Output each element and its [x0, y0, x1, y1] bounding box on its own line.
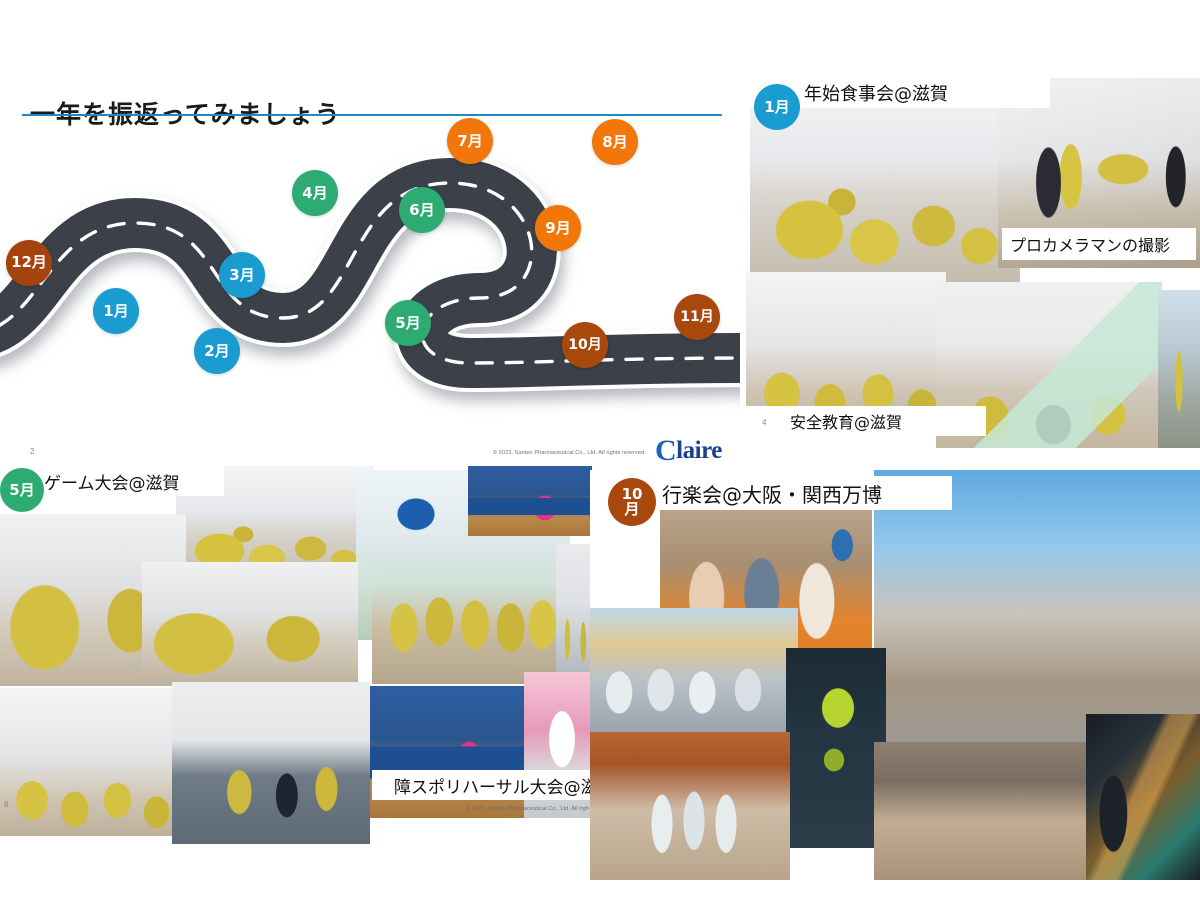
caption-safety-education: 安全教育@滋賀 [746, 406, 986, 436]
slide-october-events: 行楽会@大阪・関西万博 10 月 [590, 470, 1200, 900]
caption-pro-photographer: プロカメラマンの撮影 [1002, 228, 1196, 260]
caption-para-sports-rehearsal: 障スポリハーサル大会@滋賀 [372, 770, 600, 800]
month-marker-7月[interactable]: 7月 [447, 118, 493, 164]
photo-east-gate-group [590, 608, 798, 736]
title-underline-rule [22, 114, 722, 116]
month-marker-2月[interactable]: 2月 [194, 328, 240, 374]
month-marker-10月[interactable]: 10月 [562, 322, 608, 368]
photo-thailand-pavilion [786, 648, 886, 848]
month-marker-5月[interactable]: 5月 [385, 300, 431, 346]
slide-may-events: ゲーム大会@滋賀 障スポリハーサル大会@滋賀 5月 8 © 2023. Sant… [0, 462, 600, 850]
month-marker-label: 6月 [409, 203, 434, 218]
month-marker-6月[interactable]: 6月 [399, 187, 445, 233]
page-number: 2 [30, 447, 34, 456]
slide-year-roadmap: 一年を振返ってみましょう 12月1月2月3月4月5月6月7月8月9月10月11月… [0, 0, 740, 462]
photo-dinner-table [874, 742, 1090, 880]
month-marker-4月[interactable]: 4月 [292, 170, 338, 216]
winding-road-graphic [0, 118, 740, 418]
photo-block-game [142, 562, 358, 686]
photo-boccia-gym [172, 682, 370, 844]
month-badge-label: 5月 [9, 483, 34, 498]
month-marker-8月[interactable]: 8月 [592, 119, 638, 165]
month-marker-label: 5月 [395, 316, 420, 331]
month-badge-october: 10 月 [608, 478, 656, 526]
page-number: 8 [4, 800, 8, 809]
month-marker-12月[interactable]: 12月 [6, 240, 52, 286]
month-marker-1月[interactable]: 1月 [93, 288, 139, 334]
photo-card-game [0, 688, 178, 836]
month-marker-label: 1月 [103, 304, 128, 319]
month-marker-3月[interactable]: 3月 [219, 252, 265, 298]
month-marker-label: 8月 [602, 135, 627, 150]
claire-logo: Claire [655, 434, 722, 462]
month-marker-11月[interactable]: 11月 [674, 294, 720, 340]
copyright-notice: © 2023. Santen Pharmaceutical Co., Ltd. … [493, 450, 646, 456]
photo-outdoor-strip [1158, 290, 1200, 448]
month-marker-label: 3月 [229, 268, 254, 283]
month-marker-label: 9月 [545, 221, 570, 236]
month-marker-label: 11月 [680, 310, 713, 325]
month-badge-may: 5月 [0, 468, 44, 512]
claire-logo-mark: C [655, 434, 676, 462]
photo-team-group [372, 536, 570, 684]
month-marker-label: 7月 [457, 134, 482, 149]
month-badge-label: 1月 [764, 100, 789, 115]
copyright-notice: © 2023. Santen Pharmaceutical Co., Ltd. … [466, 806, 589, 812]
month-badge-january: 1月 [754, 84, 800, 130]
month-badge-label: 10 月 [622, 487, 643, 518]
page-number: 4 [762, 418, 766, 427]
photo-table-tennis-top [468, 466, 592, 536]
claire-logo-text: laire [676, 437, 722, 462]
month-marker-label: 10月 [568, 338, 601, 353]
slide-january-events: 年始食事会@滋賀 プロカメラマンの撮影 安全教育@滋賀 1月 4 [740, 60, 1200, 460]
photo-neon-exhibit [1086, 714, 1200, 880]
month-marker-9月[interactable]: 9月 [535, 205, 581, 251]
month-marker-label: 4月 [302, 186, 327, 201]
month-marker-label: 2月 [204, 344, 229, 359]
photo-costume-parade [590, 732, 790, 880]
month-marker-label: 12月 [11, 255, 47, 271]
slide-deck-canvas: 一年を振返ってみましょう 12月1月2月3月4月5月6月7月8月9月10月11月… [0, 0, 1200, 900]
